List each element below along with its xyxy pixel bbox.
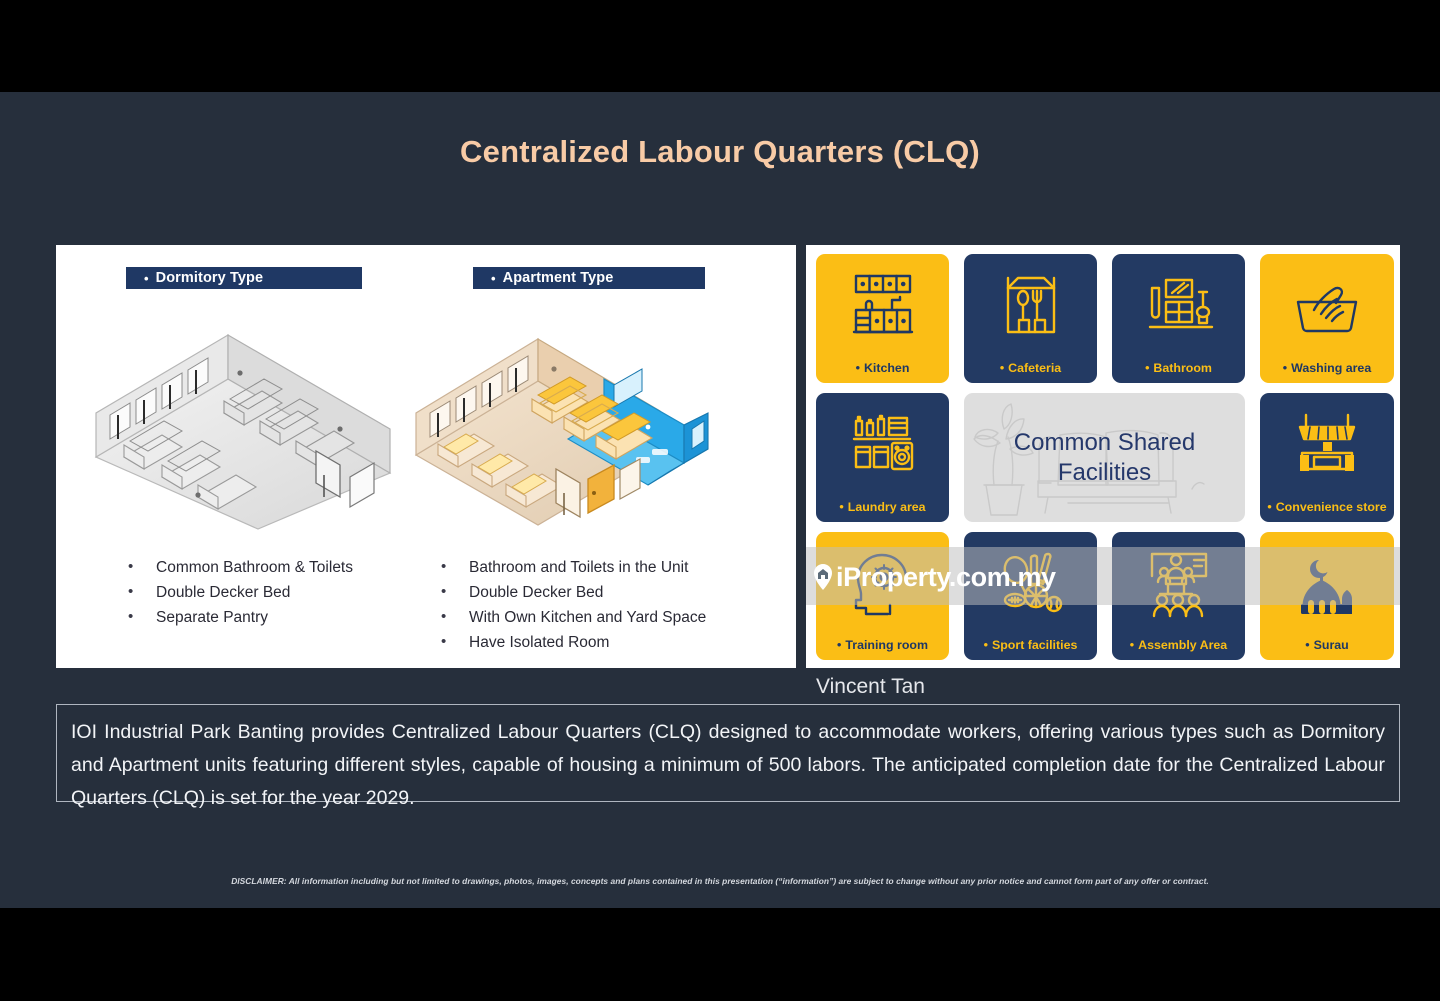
list-item: Double Decker Bed bbox=[118, 580, 448, 605]
dormitory-feature-list: Common Bathroom & Toilets Double Decker … bbox=[118, 555, 448, 630]
facility-tile-label: •Kitchen bbox=[816, 361, 949, 375]
cafeteria-icon bbox=[992, 270, 1070, 340]
facility-tile-label: •Washing area bbox=[1260, 361, 1394, 375]
bullet-dot-icon: • bbox=[1305, 638, 1309, 652]
unit-type-badge-apartment: • Apartment Type bbox=[473, 267, 705, 289]
bathroom-icon bbox=[1140, 270, 1218, 340]
bullet-dot-icon: • bbox=[839, 500, 843, 514]
bullet-dot-icon: • bbox=[856, 361, 860, 375]
bullet-dot-icon: • bbox=[144, 272, 149, 285]
bullet-dot-icon: • bbox=[491, 272, 496, 285]
bullet-dot-icon: • bbox=[984, 638, 988, 652]
facility-tile-laundry-area[interactable]: •Laundry area bbox=[816, 393, 949, 522]
common-shared-facilities-tile: Common Shared Facilities bbox=[964, 393, 1245, 522]
washing-area-icon bbox=[1288, 270, 1366, 340]
common-shared-facilities-label: Common Shared Facilities bbox=[1014, 428, 1195, 488]
bullet-dot-icon: • bbox=[1283, 361, 1287, 375]
list-item: Have Isolated Room bbox=[431, 630, 791, 655]
list-item: Bathroom and Toilets in the Unit bbox=[431, 555, 791, 580]
bullet-dot-icon: • bbox=[837, 638, 841, 652]
location-pin-icon bbox=[812, 563, 834, 591]
bullet-dot-icon: • bbox=[1000, 361, 1004, 375]
watermark: iProperty.com.my bbox=[812, 559, 1056, 595]
facility-tile-label: •Bathroom bbox=[1112, 361, 1245, 375]
facility-tile-convenience-store[interactable]: •Convenience store bbox=[1260, 393, 1394, 522]
disclaimer-text: DISCLAIMER: All information including bu… bbox=[0, 876, 1440, 886]
unit-type-badge-dormitory: • Dormitory Type bbox=[126, 267, 362, 289]
bullet-dot-icon: • bbox=[1145, 361, 1149, 375]
convenience-store-icon bbox=[1288, 409, 1366, 479]
facility-tile-label: •Training room bbox=[816, 638, 949, 652]
list-item: Double Decker Bed bbox=[431, 580, 791, 605]
dormitory-isometric-room-illustration bbox=[78, 307, 408, 537]
description-text: IOI Industrial Park Banting provides Cen… bbox=[71, 716, 1385, 815]
unit-types-card: • Dormitory Type • Apartment Type bbox=[56, 245, 796, 668]
unit-type-headers: • Dormitory Type • Apartment Type bbox=[56, 267, 796, 291]
facility-tile-washing-area[interactable]: •Washing area bbox=[1260, 254, 1394, 383]
slide-canvas: Centralized Labour Quarters (CLQ) • Dorm… bbox=[0, 92, 1440, 908]
author-name: Vincent Tan bbox=[816, 675, 925, 699]
bullet-dot-icon: • bbox=[1130, 638, 1134, 652]
facility-tile-kitchen[interactable]: •Kitchen bbox=[816, 254, 949, 383]
facility-tile-label: •Laundry area bbox=[816, 500, 949, 514]
list-item: Separate Pantry bbox=[118, 605, 448, 630]
facility-tile-label: •Surau bbox=[1260, 638, 1394, 652]
slide-viewer: Centralized Labour Quarters (CLQ) • Dorm… bbox=[0, 0, 1440, 1001]
page-title: Centralized Labour Quarters (CLQ) bbox=[0, 134, 1440, 170]
facility-tile-bathroom[interactable]: •Bathroom bbox=[1112, 254, 1245, 383]
bullet-dot-icon: • bbox=[1267, 500, 1271, 514]
facility-tile-label: •Cafeteria bbox=[964, 361, 1097, 375]
list-item: With Own Kitchen and Yard Space bbox=[431, 605, 791, 630]
list-item: Common Bathroom & Toilets bbox=[118, 555, 448, 580]
laundry-icon bbox=[844, 409, 922, 479]
facility-tile-label: •Assembly Area bbox=[1112, 638, 1245, 652]
unit-type-label: Apartment Type bbox=[503, 270, 614, 286]
facility-tile-label: •Sport facilities bbox=[964, 638, 1097, 652]
facility-tile-cafeteria[interactable]: •Cafeteria bbox=[964, 254, 1097, 383]
facility-tile-label: •Convenience store bbox=[1260, 500, 1394, 514]
watermark-text: iProperty.com.my bbox=[836, 562, 1056, 593]
kitchen-icon bbox=[844, 270, 922, 340]
apartment-isometric-room-illustration bbox=[408, 307, 738, 537]
apartment-feature-list: Bathroom and Toilets in the Unit Double … bbox=[431, 555, 791, 655]
unit-type-label: Dormitory Type bbox=[156, 270, 263, 286]
description-box: IOI Industrial Park Banting provides Cen… bbox=[56, 704, 1400, 802]
